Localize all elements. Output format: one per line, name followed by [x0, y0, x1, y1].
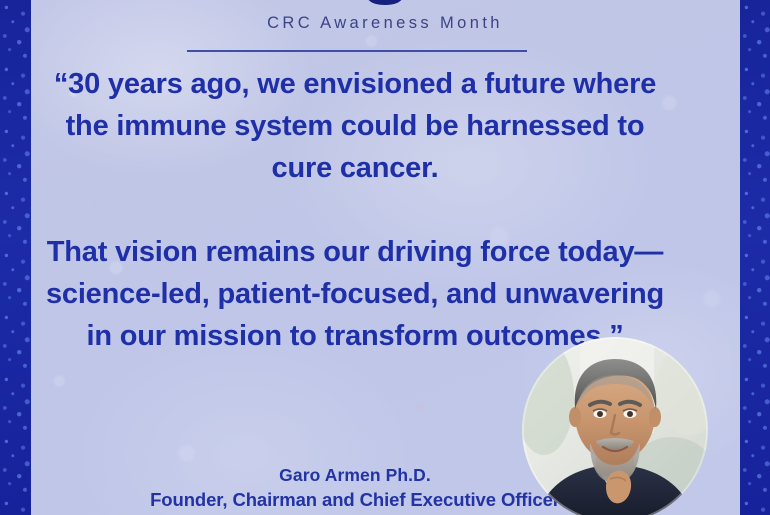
quote-text: “30 years ago, we envisioned a future wh… — [38, 63, 672, 357]
paragraph-spacer — [38, 189, 672, 231]
avatar — [522, 337, 708, 515]
quote-poster: CRC Awareness Month “30 years ago, we en… — [0, 0, 770, 515]
eyebrow-label: CRC Awareness Month — [0, 14, 770, 33]
quote-paragraph-2: That vision remains our driving force to… — [46, 236, 664, 352]
portrait-photo — [522, 337, 708, 515]
quote-paragraph-1: “30 years ago, we envisioned a future wh… — [54, 68, 656, 184]
horizontal-rule-icon — [187, 50, 527, 52]
